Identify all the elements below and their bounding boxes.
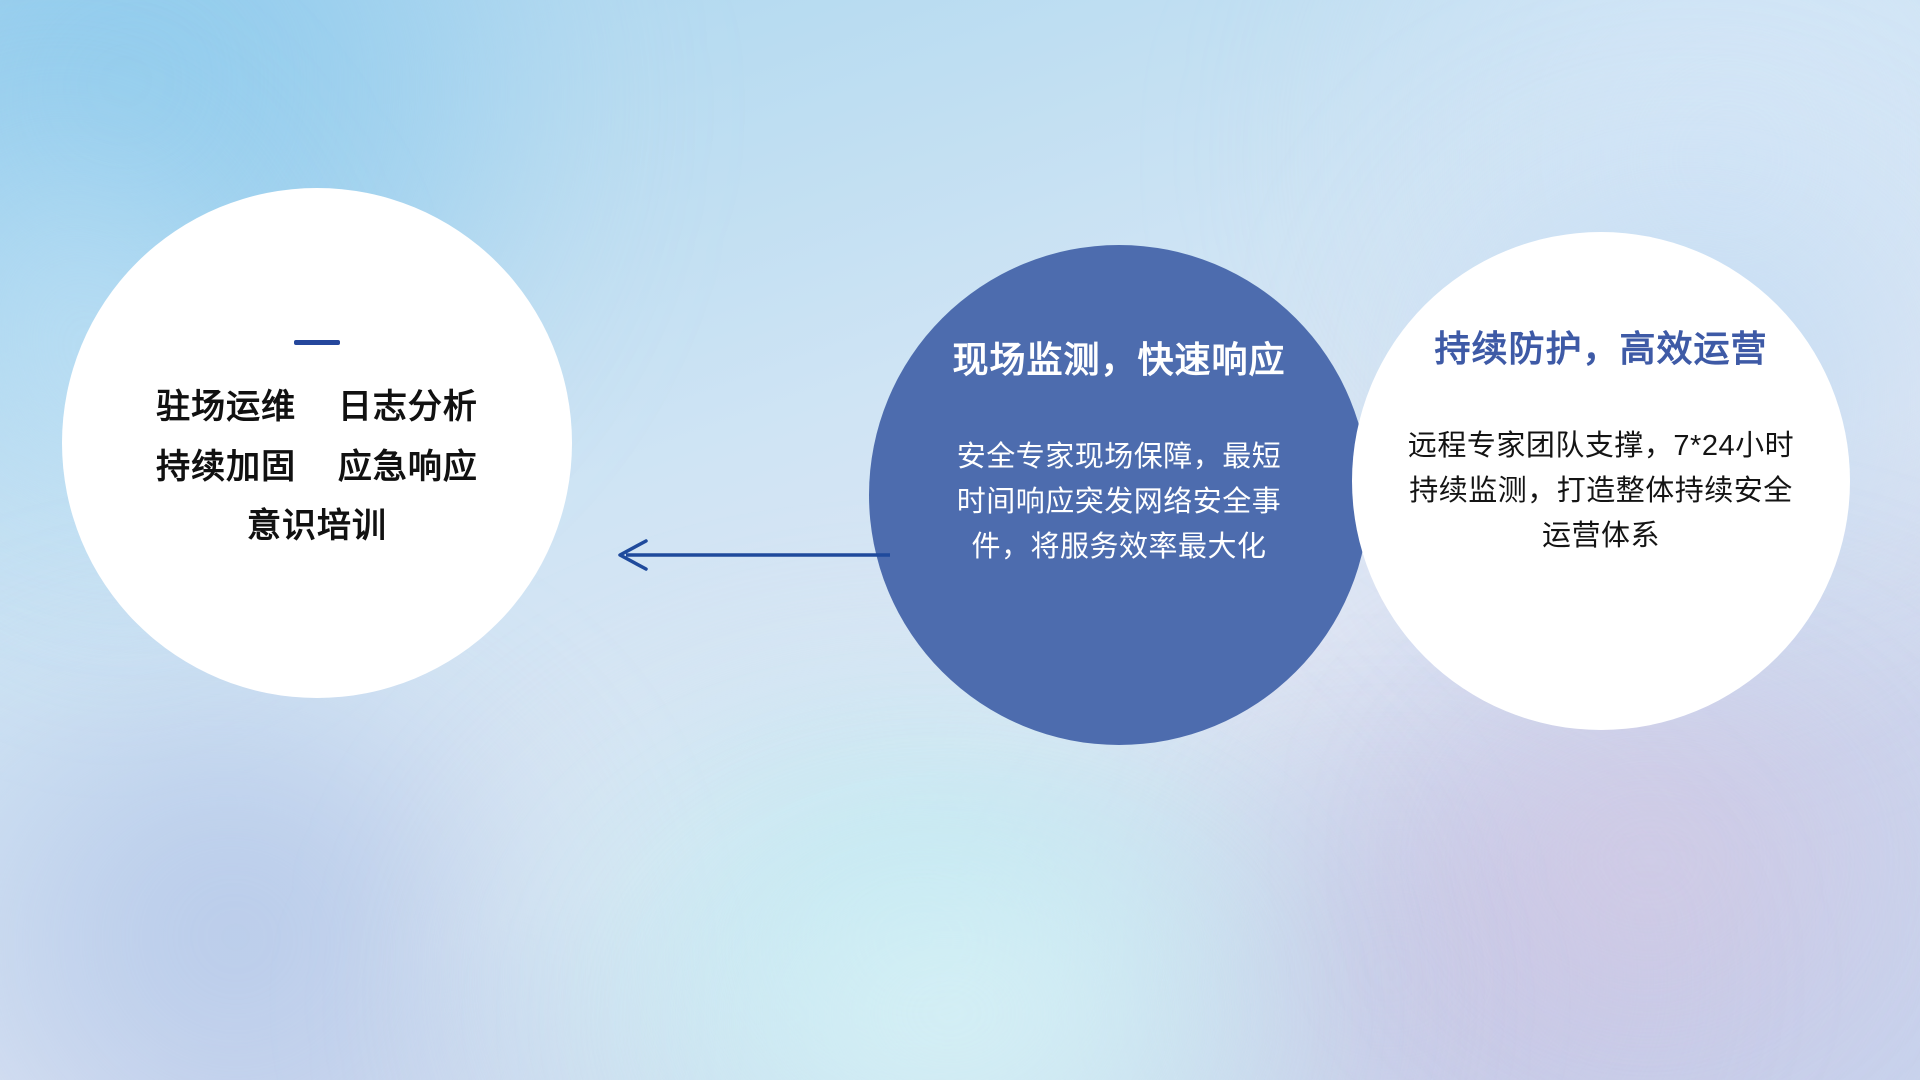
right-circle-body: 远程专家团队支撑，7*24小时持续监测，打造整体持续安全运营体系 [1396,424,1806,559]
flow-arrow [600,525,890,585]
right-circle-card[interactable]: 持续防护，高效运营 远程专家团队支撑，7*24小时持续监测，打造整体持续安全运营… [1352,232,1850,730]
middle-circle-body: 安全专家现场保障，最短时间响应突发网络安全事件，将服务效率最大化 [954,435,1284,570]
left-circle-line: 驻场运维 日志分析 [156,389,478,426]
left-circle-keyword-list: 驻场运维 日志分析 持续加固 应急响应 意识培训 [156,389,478,545]
left-circle-line: 持续加固 应急响应 [156,449,478,486]
middle-circle-card[interactable]: 现场监测，快速响应 安全专家现场保障，最短时间响应突发网络安全事件，将服务效率最… [869,245,1369,745]
left-circle-divider [294,340,340,345]
left-circle-card[interactable]: 驻场运维 日志分析 持续加固 应急响应 意识培训 [62,188,572,698]
middle-circle-title: 现场监测，快速响应 [952,331,1285,383]
slide-canvas: 现场监测，快速响应 安全专家现场保障，最短时间响应突发网络安全事件，将服务效率最… [0,0,1920,1080]
right-circle-title: 持续防护，高效运营 [1434,320,1767,372]
left-circle-line: 意识培训 [247,508,387,545]
